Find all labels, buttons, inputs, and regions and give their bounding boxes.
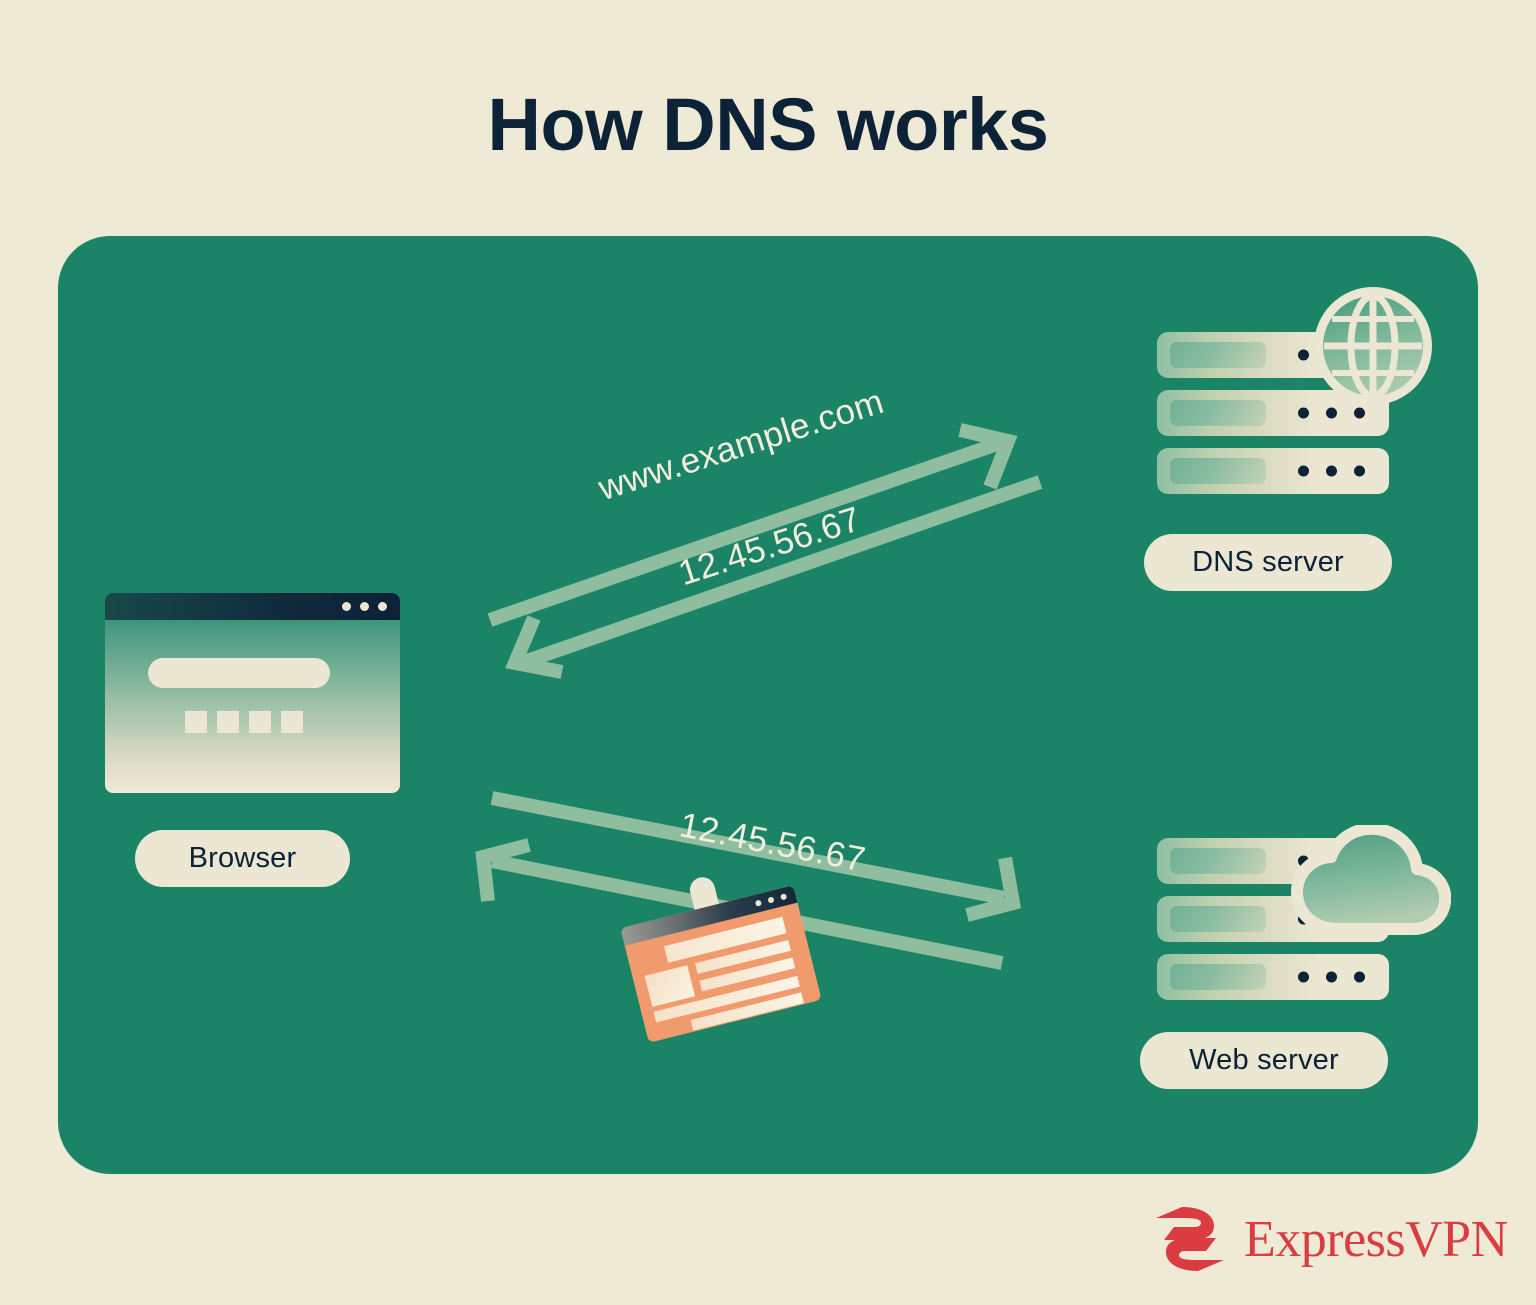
browser-dot-1 — [342, 602, 351, 611]
webpage-card-dot-2 — [767, 896, 774, 903]
rack-slot-bar — [1170, 458, 1266, 484]
expressvpn-wordmark: ExpressVPN — [1244, 1210, 1508, 1269]
dns-server-label: DNS server — [1144, 534, 1392, 591]
browser-searchbar — [148, 658, 330, 688]
expressvpn-logo: ExpressVPN — [1152, 1206, 1508, 1272]
browser-tile-2 — [217, 711, 239, 733]
cloud-icon — [1291, 825, 1451, 939]
expressvpn-e-mark-icon — [1152, 1206, 1228, 1272]
rack-slot — [1157, 954, 1389, 1000]
rack-slot-bar — [1170, 342, 1266, 368]
rack-slot-dots — [1298, 466, 1365, 477]
rack-slot-dots — [1298, 972, 1365, 983]
web-server-label: Web server — [1140, 1032, 1388, 1089]
browser-tile-3 — [249, 711, 271, 733]
rack-slot-bar — [1170, 964, 1266, 990]
rack-slot-bar — [1170, 848, 1266, 874]
browser-label: Browser — [135, 830, 350, 887]
rack-slot-bar — [1170, 400, 1266, 426]
browser-dot-2 — [360, 602, 369, 611]
browser-tiles — [185, 711, 303, 733]
browser-tile-1 — [185, 711, 207, 733]
webpage-card-thumb — [645, 965, 695, 1007]
webpage-card-dot-1 — [755, 900, 762, 907]
browser-dot-3 — [378, 602, 387, 611]
rack-slot-dots — [1298, 408, 1365, 419]
browser-tile-4 — [281, 711, 303, 733]
globe-icon — [1312, 285, 1434, 407]
rack-slot — [1157, 448, 1389, 494]
browser-titlebar — [105, 593, 400, 620]
webpage-card-dot-3 — [780, 893, 787, 900]
diagram-page: How DNS works Browser — [0, 0, 1536, 1305]
browser-window-icon — [105, 593, 400, 793]
rack-slot-bar — [1170, 906, 1266, 932]
page-title: How DNS works — [0, 82, 1536, 167]
